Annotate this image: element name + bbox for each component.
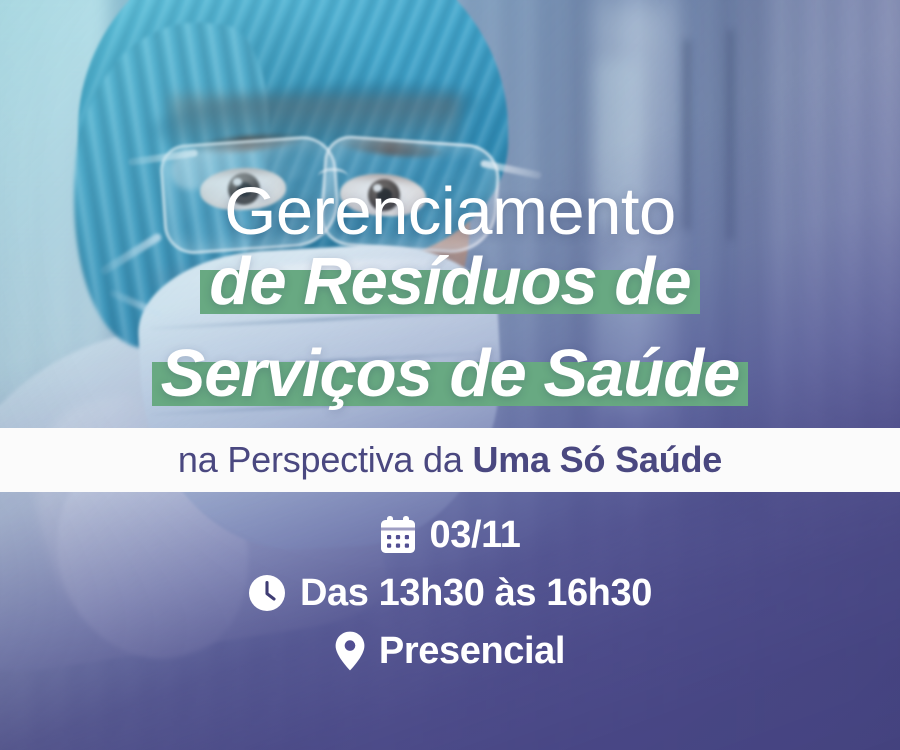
- title-line-2-wrap: de Resíduos de: [0, 248, 900, 336]
- event-poster: Gerenciamento de Resíduos de Serviços de…: [0, 0, 900, 750]
- detail-row-date: 03/11: [380, 506, 521, 564]
- detail-row-format: Presencial: [335, 622, 565, 680]
- map-pin-icon: [335, 631, 365, 671]
- detail-label-date: 03/11: [430, 514, 521, 557]
- title-line-2: de Resíduos de: [200, 248, 699, 316]
- title-line-3-wrap: Serviços de Saúde: [0, 340, 900, 428]
- event-details: 03/11 Das 13h30 às 16h30 Presencial: [0, 506, 900, 680]
- subtitle-prefix: na Perspectiva da: [178, 439, 473, 480]
- calendar-icon: [380, 516, 416, 554]
- subtitle-text: na Perspectiva da Uma Só Saúde: [178, 439, 722, 481]
- subtitle-banner: na Perspectiva da Uma Só Saúde: [0, 428, 900, 492]
- detail-row-time: Das 13h30 às 16h30: [248, 564, 652, 622]
- clock-icon: [248, 574, 286, 612]
- detail-label-format: Presencial: [379, 630, 565, 673]
- subtitle-strong: Uma Só Saúde: [472, 439, 722, 480]
- poster-title: Gerenciamento de Resíduos de Serviços de…: [0, 176, 900, 428]
- title-line-1: Gerenciamento: [0, 176, 900, 248]
- detail-label-time: Das 13h30 às 16h30: [300, 572, 652, 615]
- title-line-3: Serviços de Saúde: [152, 340, 749, 408]
